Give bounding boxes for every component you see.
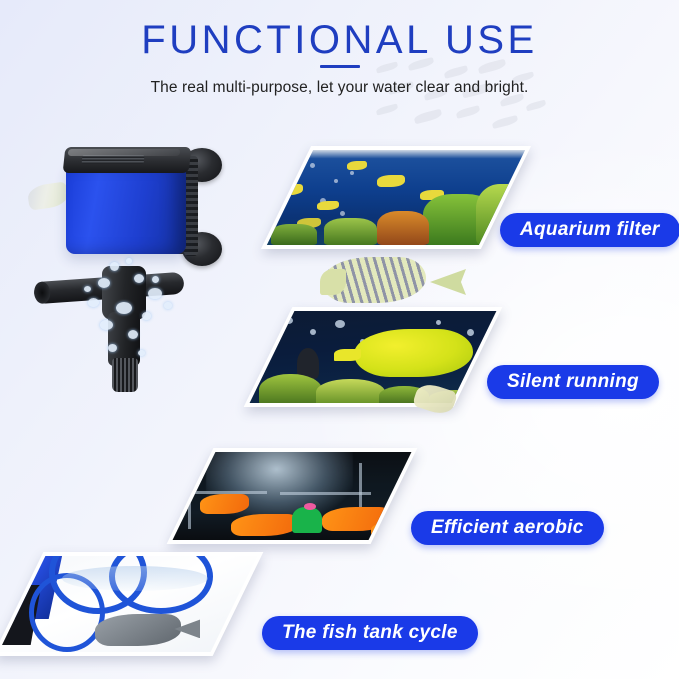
school-of-fish-watermark bbox=[370, 58, 570, 138]
product-pump-image bbox=[24, 140, 274, 405]
title-divider bbox=[320, 65, 360, 68]
strainer-cage bbox=[112, 358, 138, 392]
grey-fish bbox=[95, 614, 181, 647]
feature-badge-fish-tank-cycle[interactable]: The fish tank cycle bbox=[262, 616, 478, 650]
feature-badge-silent-running[interactable]: Silent running bbox=[487, 365, 659, 399]
pump-top-highlight bbox=[68, 149, 181, 156]
side-fish-decoration bbox=[27, 181, 70, 210]
page-subtitle: The real multi-purpose, let your water c… bbox=[0, 78, 679, 98]
feature-image-fish-tank-cycle bbox=[0, 552, 263, 656]
feature-badge-efficient-aerobic[interactable]: Efficient aerobic bbox=[411, 511, 604, 545]
product-feature-page: FUNCTIONAL USE The real multi-purpose, l… bbox=[0, 0, 679, 679]
feature-image-efficient-aerobic bbox=[167, 448, 418, 544]
page-title: FUNCTIONAL USE bbox=[0, 16, 679, 64]
feature-image-silent-running bbox=[244, 307, 503, 407]
feature-image-aquarium-filter bbox=[261, 146, 531, 249]
feature-badge-aquarium-filter[interactable]: Aquarium filter bbox=[500, 213, 679, 247]
sailfin-tang-overlay bbox=[322, 253, 450, 309]
yellow-tang-fish bbox=[354, 329, 474, 377]
pump-body-blue bbox=[66, 164, 186, 254]
